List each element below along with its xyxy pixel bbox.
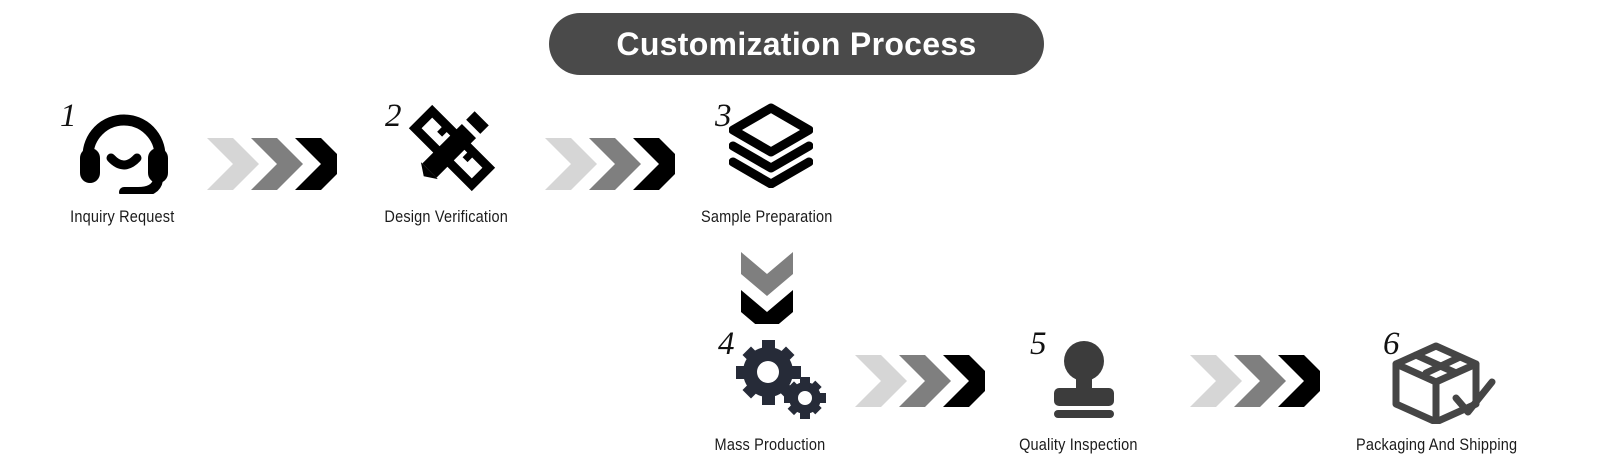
- step-2-number: 2: [385, 100, 402, 133]
- step-6-label: Packaging And Shipping: [1356, 436, 1517, 455]
- arrow-step2-to-step3: [545, 138, 675, 190]
- step-3-graphic: 3: [667, 98, 867, 198]
- arrow-step1-to-step2: [207, 138, 337, 190]
- ruler-pencil-icon: [406, 102, 498, 199]
- step-3-label: Sample Preparation: [701, 208, 833, 227]
- arrow-step4-to-step5: [855, 355, 985, 407]
- step-1-graphic: 1: [22, 98, 222, 198]
- step-4-number: 4: [718, 328, 735, 361]
- step-2-graphic: 2: [346, 98, 546, 198]
- headset-icon: [76, 102, 172, 199]
- arrow-step5-to-step6: [1190, 355, 1320, 407]
- step-1-label: Inquiry Request: [70, 208, 174, 227]
- layers-stack-icon: [729, 102, 813, 193]
- step-1-number: 1: [60, 100, 77, 133]
- step-4-label: Mass Production: [715, 436, 826, 455]
- step-2-label: Design Verification: [384, 208, 508, 227]
- stamp-icon: [1046, 338, 1122, 425]
- step-5-quality-inspection: 5 Quality Inspection: [978, 328, 1178, 455]
- step-4-graphic: 4: [670, 328, 870, 426]
- step-2-design-verification: 2: [346, 98, 546, 227]
- step-4-mass-production: 4: [670, 328, 870, 455]
- step-3-sample-preparation: 3 Sample Preparation: [667, 98, 867, 227]
- page-title: Customization Process: [616, 26, 976, 63]
- customization-process-infographic: Customization Process 1 Inqu: [0, 0, 1600, 470]
- step-6-graphic: 6: [1337, 328, 1537, 426]
- gears-icon: [734, 340, 826, 425]
- box-check-icon: [1388, 336, 1498, 429]
- step-5-label: Quality Inspection: [1019, 436, 1138, 455]
- step-5-number: 5: [1030, 328, 1047, 361]
- arrow-step3-to-step4: [741, 252, 793, 324]
- step-5-graphic: 5: [978, 328, 1178, 426]
- step-1-inquiry-request: 1 Inquiry Request: [22, 98, 222, 227]
- step-6-packaging-and-shipping: 6: [1337, 328, 1537, 455]
- page-title-pill: Customization Process: [549, 13, 1044, 75]
